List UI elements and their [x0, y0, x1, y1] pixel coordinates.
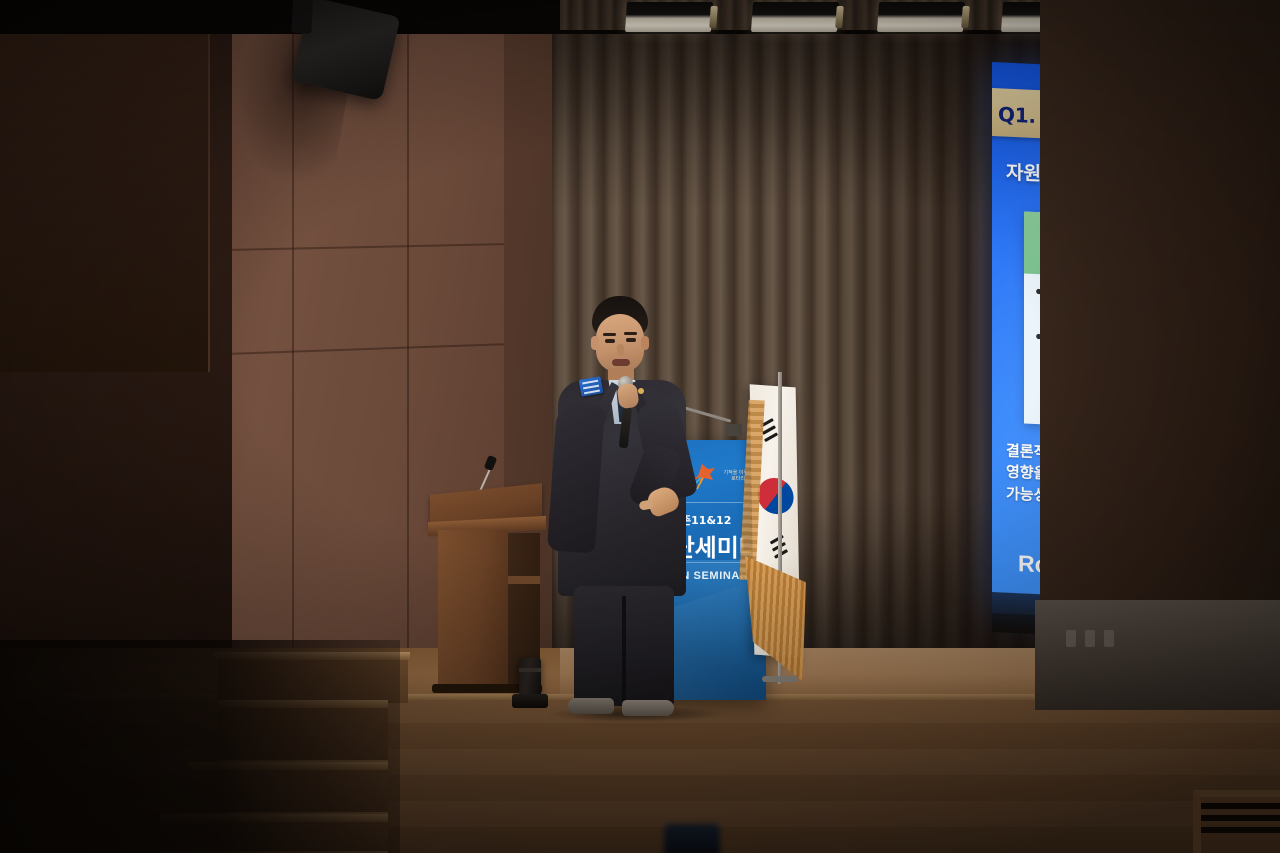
trigram-bar	[764, 432, 778, 442]
shoe	[622, 700, 674, 716]
speaker-person	[540, 296, 730, 716]
wall-left-recess	[0, 0, 210, 372]
lapel-pin-icon	[638, 388, 644, 394]
stage-photograph: Q1. 국제로타리는 어떤 자원봉사 및 서비스 조직으로 1.긍정적인 영향:…	[0, 0, 1280, 853]
nose	[617, 344, 624, 356]
foreground-blurred-object	[664, 824, 720, 853]
ear	[641, 336, 649, 350]
eye	[626, 338, 636, 342]
mouth	[612, 359, 630, 366]
stage-light-icon	[877, 2, 965, 32]
right-wall-lower-band	[1035, 600, 1280, 710]
panel-seam	[232, 243, 504, 251]
eyebrow	[624, 332, 637, 335]
trouser-seam	[622, 596, 626, 704]
panel-seam	[407, 0, 409, 700]
lectern-shelf	[508, 576, 540, 584]
shoe	[568, 698, 614, 714]
flagpole-base	[762, 676, 798, 682]
stage-light-icon	[625, 2, 713, 32]
eyebrow	[603, 333, 616, 336]
camera-lens-ring	[519, 668, 541, 672]
stage-light-icon	[751, 2, 839, 32]
hand-holding-mic	[616, 383, 639, 410]
eye	[605, 339, 615, 343]
wall-right-dark	[1040, 0, 1280, 700]
arm-left	[547, 403, 605, 554]
lectern-body	[438, 530, 508, 688]
panel-seam	[232, 343, 504, 354]
wall-switch-panel[interactable]	[1066, 630, 1114, 647]
ear	[591, 336, 599, 350]
stage-left-shadow	[0, 640, 400, 853]
wooden-vent-grille	[1193, 790, 1280, 853]
